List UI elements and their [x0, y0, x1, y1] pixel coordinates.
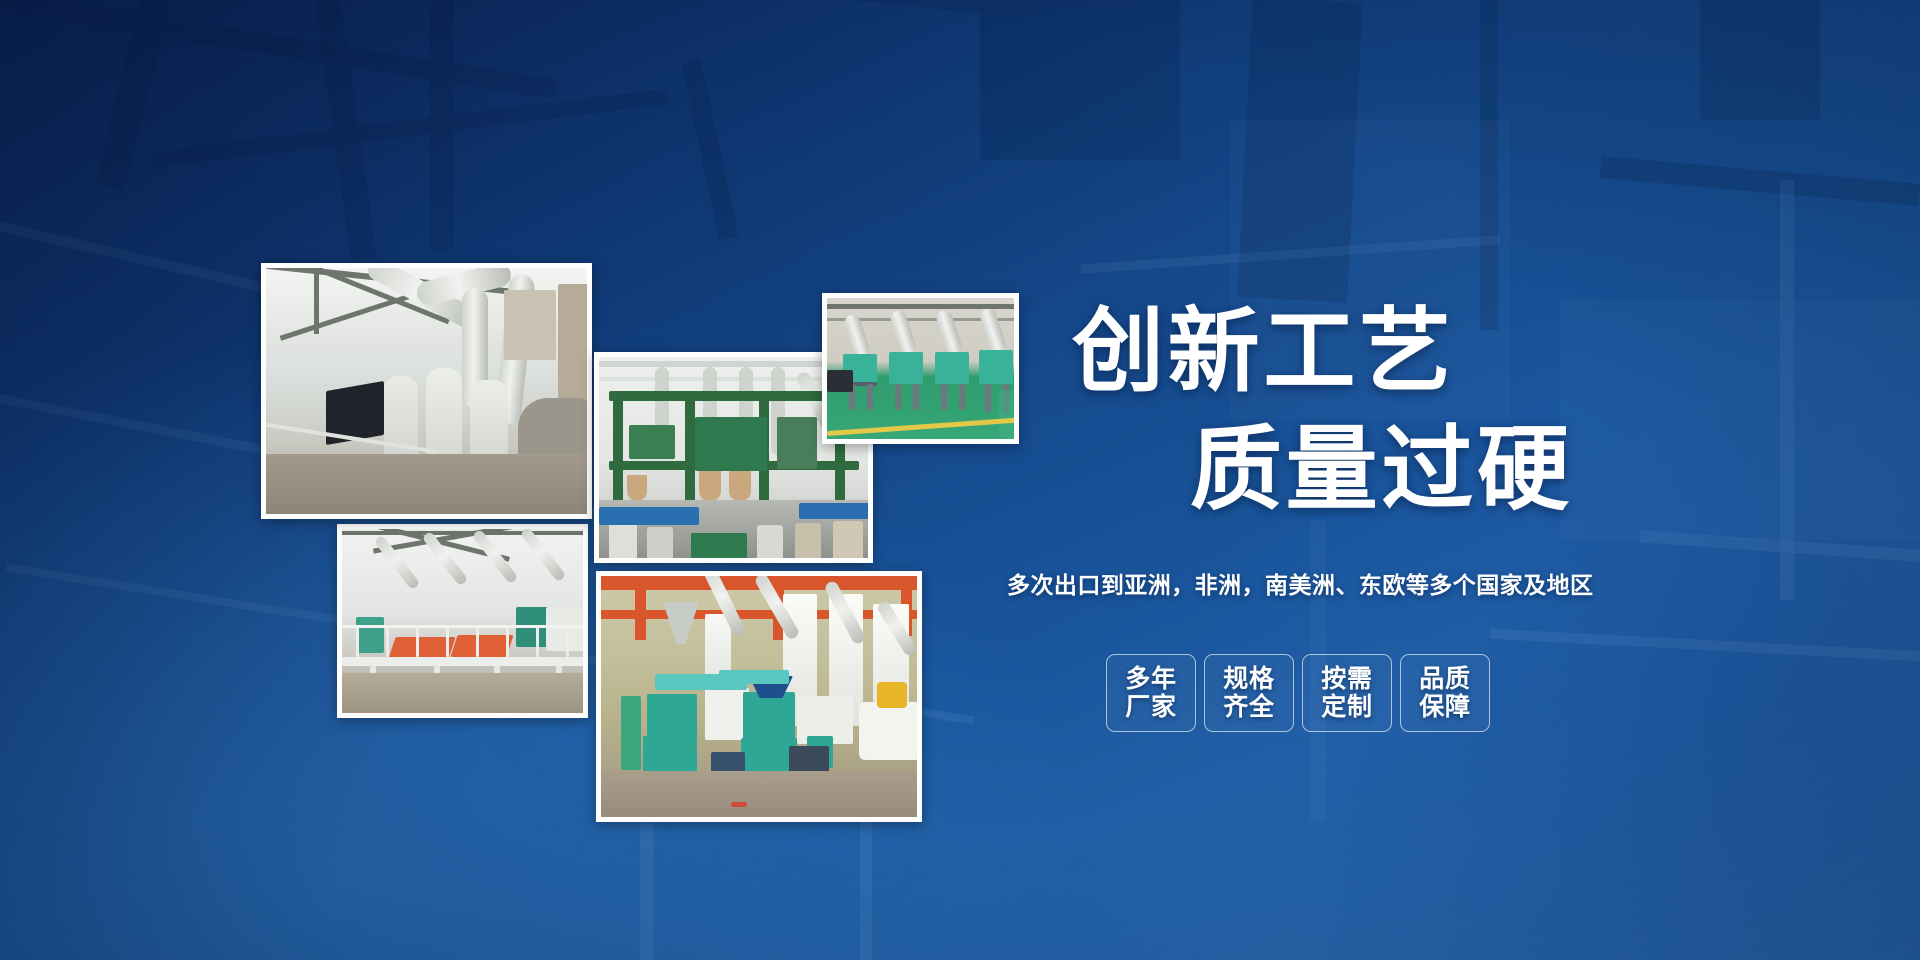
badge-line-1: 按需: [1321, 665, 1373, 693]
collage-photo-5: [596, 571, 922, 822]
feature-badge-years[interactable]: 多年 厂家: [1106, 654, 1196, 732]
feature-badge-custom[interactable]: 按需 定制: [1302, 654, 1392, 732]
feature-badge-quality[interactable]: 品质 保障: [1400, 654, 1490, 732]
collage-photo-2: [822, 293, 1019, 444]
feature-badge-specs[interactable]: 规格 齐全: [1204, 654, 1294, 732]
badge-line-1: 多年: [1125, 665, 1177, 693]
headline-line-2: 质量过硬: [1190, 424, 1573, 516]
badge-line-1: 品质: [1419, 665, 1471, 693]
headline-line-1: 创新工艺: [1072, 306, 1455, 398]
feature-badge-row: 多年 厂家 规格 齐全 按需 定制 品质 保障: [1106, 654, 1490, 732]
badge-line-2: 定制: [1321, 693, 1373, 721]
banner-subtitle: 多次出口到亚洲，非洲，南美洲、东欧等多个国家及地区: [1007, 566, 1594, 600]
promo-banner: 创新工艺 质量过硬 多次出口到亚洲，非洲，南美洲、东欧等多个国家及地区 多年 厂…: [0, 0, 1920, 960]
collage-photo-4: [337, 524, 588, 718]
collage-photo-1: [261, 263, 592, 519]
badge-line-1: 规格: [1223, 665, 1275, 693]
badge-line-2: 保障: [1419, 693, 1471, 721]
badge-line-2: 齐全: [1223, 693, 1275, 721]
badge-line-2: 厂家: [1125, 693, 1177, 721]
